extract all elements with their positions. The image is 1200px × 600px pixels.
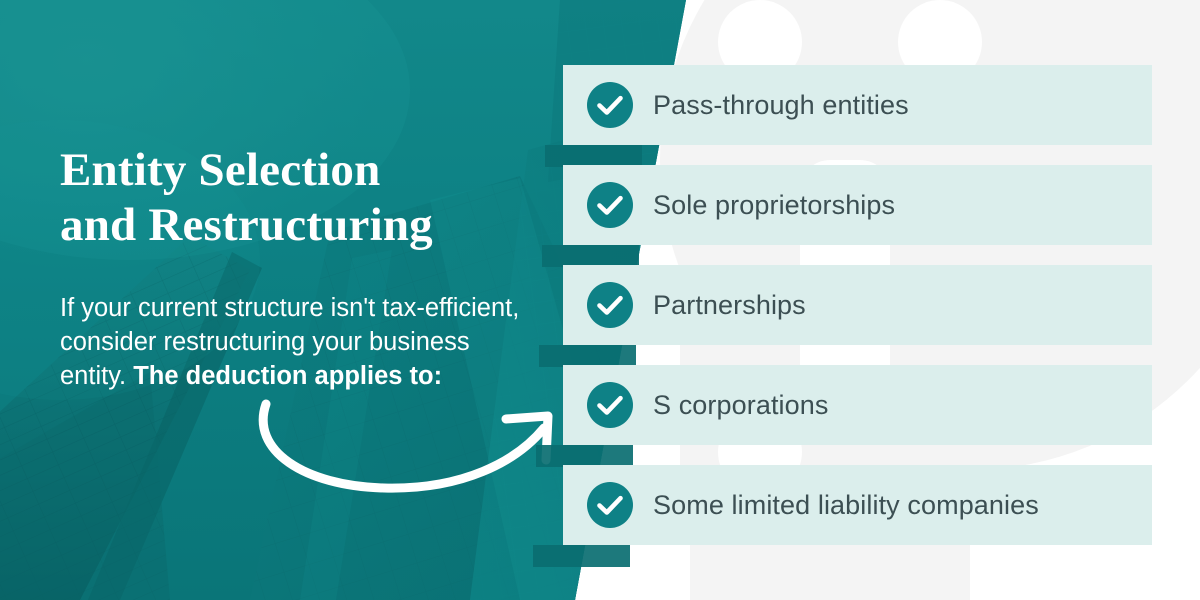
list-item[interactable]: Some limited liability companies — [563, 465, 1152, 545]
slide-canvas: Entity Selection and Restructuring If yo… — [0, 0, 1200, 600]
list-item[interactable]: Sole proprietorships — [563, 165, 1152, 245]
check-circle-icon — [587, 182, 633, 228]
row-accent-tab-1 — [545, 145, 642, 167]
list-item-label: S corporations — [653, 392, 829, 419]
list-item-label: Partnerships — [653, 292, 806, 319]
checklist: Pass-through entities Sole proprietorshi… — [0, 0, 1200, 600]
list-item[interactable]: S corporations — [563, 365, 1152, 445]
check-circle-icon — [587, 482, 633, 528]
check-circle-icon — [587, 282, 633, 328]
row-accent-tab-2 — [542, 245, 639, 267]
list-item-label: Some limited liability companies — [653, 492, 1039, 519]
row-accent-tab-4 — [536, 445, 633, 467]
row-accent-tab-5 — [533, 545, 630, 567]
list-item[interactable]: Pass-through entities — [563, 65, 1152, 145]
list-item-label: Pass-through entities — [653, 92, 909, 119]
check-circle-icon — [587, 82, 633, 128]
check-circle-icon — [587, 382, 633, 428]
row-accent-tab-3 — [539, 345, 636, 367]
list-item-label: Sole proprietorships — [653, 192, 895, 219]
list-item[interactable]: Partnerships — [563, 265, 1152, 345]
